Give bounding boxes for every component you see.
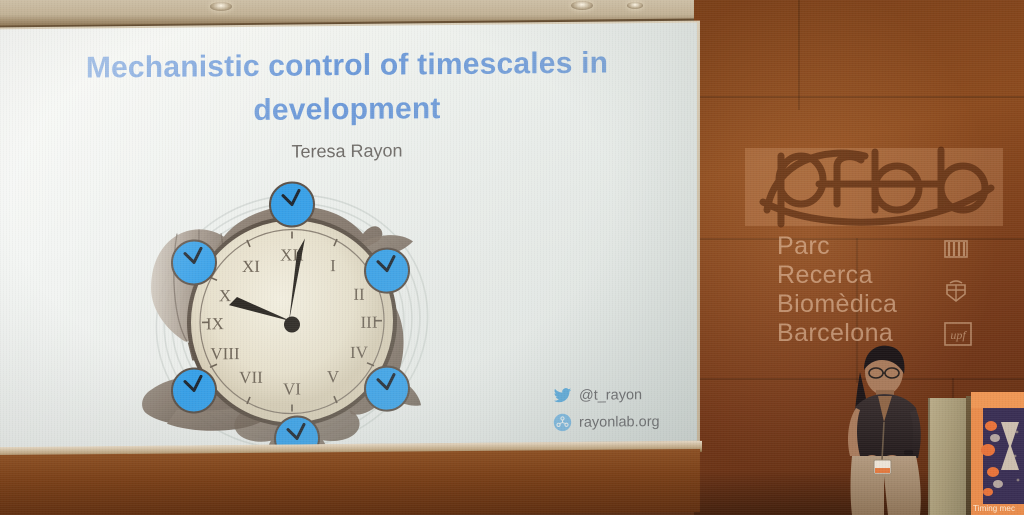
slide-contacts: @t_rayon rayonlab.org: [553, 385, 697, 440]
clock-artwork: XII I II III IV V VI VII VIII IX X XI: [137, 175, 447, 447]
svg-text:upf: upf: [950, 328, 967, 342]
svg-text:II: II: [353, 285, 365, 304]
prbb-signage: Parc Recerca Biomèdica Barcelona upf: [745, 148, 1013, 366]
lecture-hall-photo: Parc Recerca Biomèdica Barcelona upf: [0, 0, 1024, 515]
svg-text:IV: IV: [350, 343, 369, 362]
svg-text:I: I: [330, 256, 336, 275]
conference-poster: Timing mec: [971, 392, 1024, 515]
website-url: rayonlab.org: [579, 413, 660, 430]
svg-text:XI: XI: [242, 257, 260, 276]
twitter-handle: @t_rayon: [579, 387, 642, 404]
svg-text:X: X: [219, 286, 231, 305]
downlight-icon: [571, 1, 593, 10]
svg-text:VI: VI: [283, 379, 301, 398]
svg-text:VIII: VIII: [210, 344, 240, 363]
svg-text:VII: VII: [239, 368, 263, 387]
lectern: [928, 398, 970, 515]
twitter-icon: [553, 386, 572, 405]
slide-title: Mechanistic control of timescales in dev…: [0, 41, 697, 136]
slide-author: Teresa Rayon: [0, 138, 697, 166]
poster-top-band: [971, 392, 1024, 408]
signage-line-1: Parc: [777, 232, 897, 261]
svg-text:III: III: [361, 313, 378, 332]
signage-line-3: Biomèdica: [777, 290, 897, 319]
catalonia-flag-emblem: [943, 236, 969, 262]
signage-text-block: Parc Recerca Biomèdica Barcelona: [777, 232, 897, 348]
barcelona-crest-emblem: [943, 278, 969, 304]
poster-hourglass-graphic: [971, 392, 1024, 515]
prbb-logo-icon: [745, 144, 1003, 230]
downlight-icon: [210, 2, 232, 11]
downlight-icon: [627, 2, 643, 9]
poster-title: Timing mec: [973, 504, 1024, 513]
slide-title-line-2: development: [0, 85, 697, 136]
svg-text:IX: IX: [206, 314, 224, 333]
lower-wall: [0, 449, 700, 515]
website-icon: [553, 413, 572, 432]
slide-title-line-1: Mechanistic control of timescales in: [0, 41, 697, 92]
projection-screen: Mechanistic control of timescales in dev…: [0, 23, 697, 448]
institution-emblems: upf: [943, 236, 989, 364]
contact-row-twitter: @t_rayon: [553, 385, 697, 405]
signage-line-2: Recerca: [777, 261, 897, 290]
svg-text:V: V: [327, 367, 340, 386]
contact-row-website: rayonlab.org: [553, 412, 697, 432]
